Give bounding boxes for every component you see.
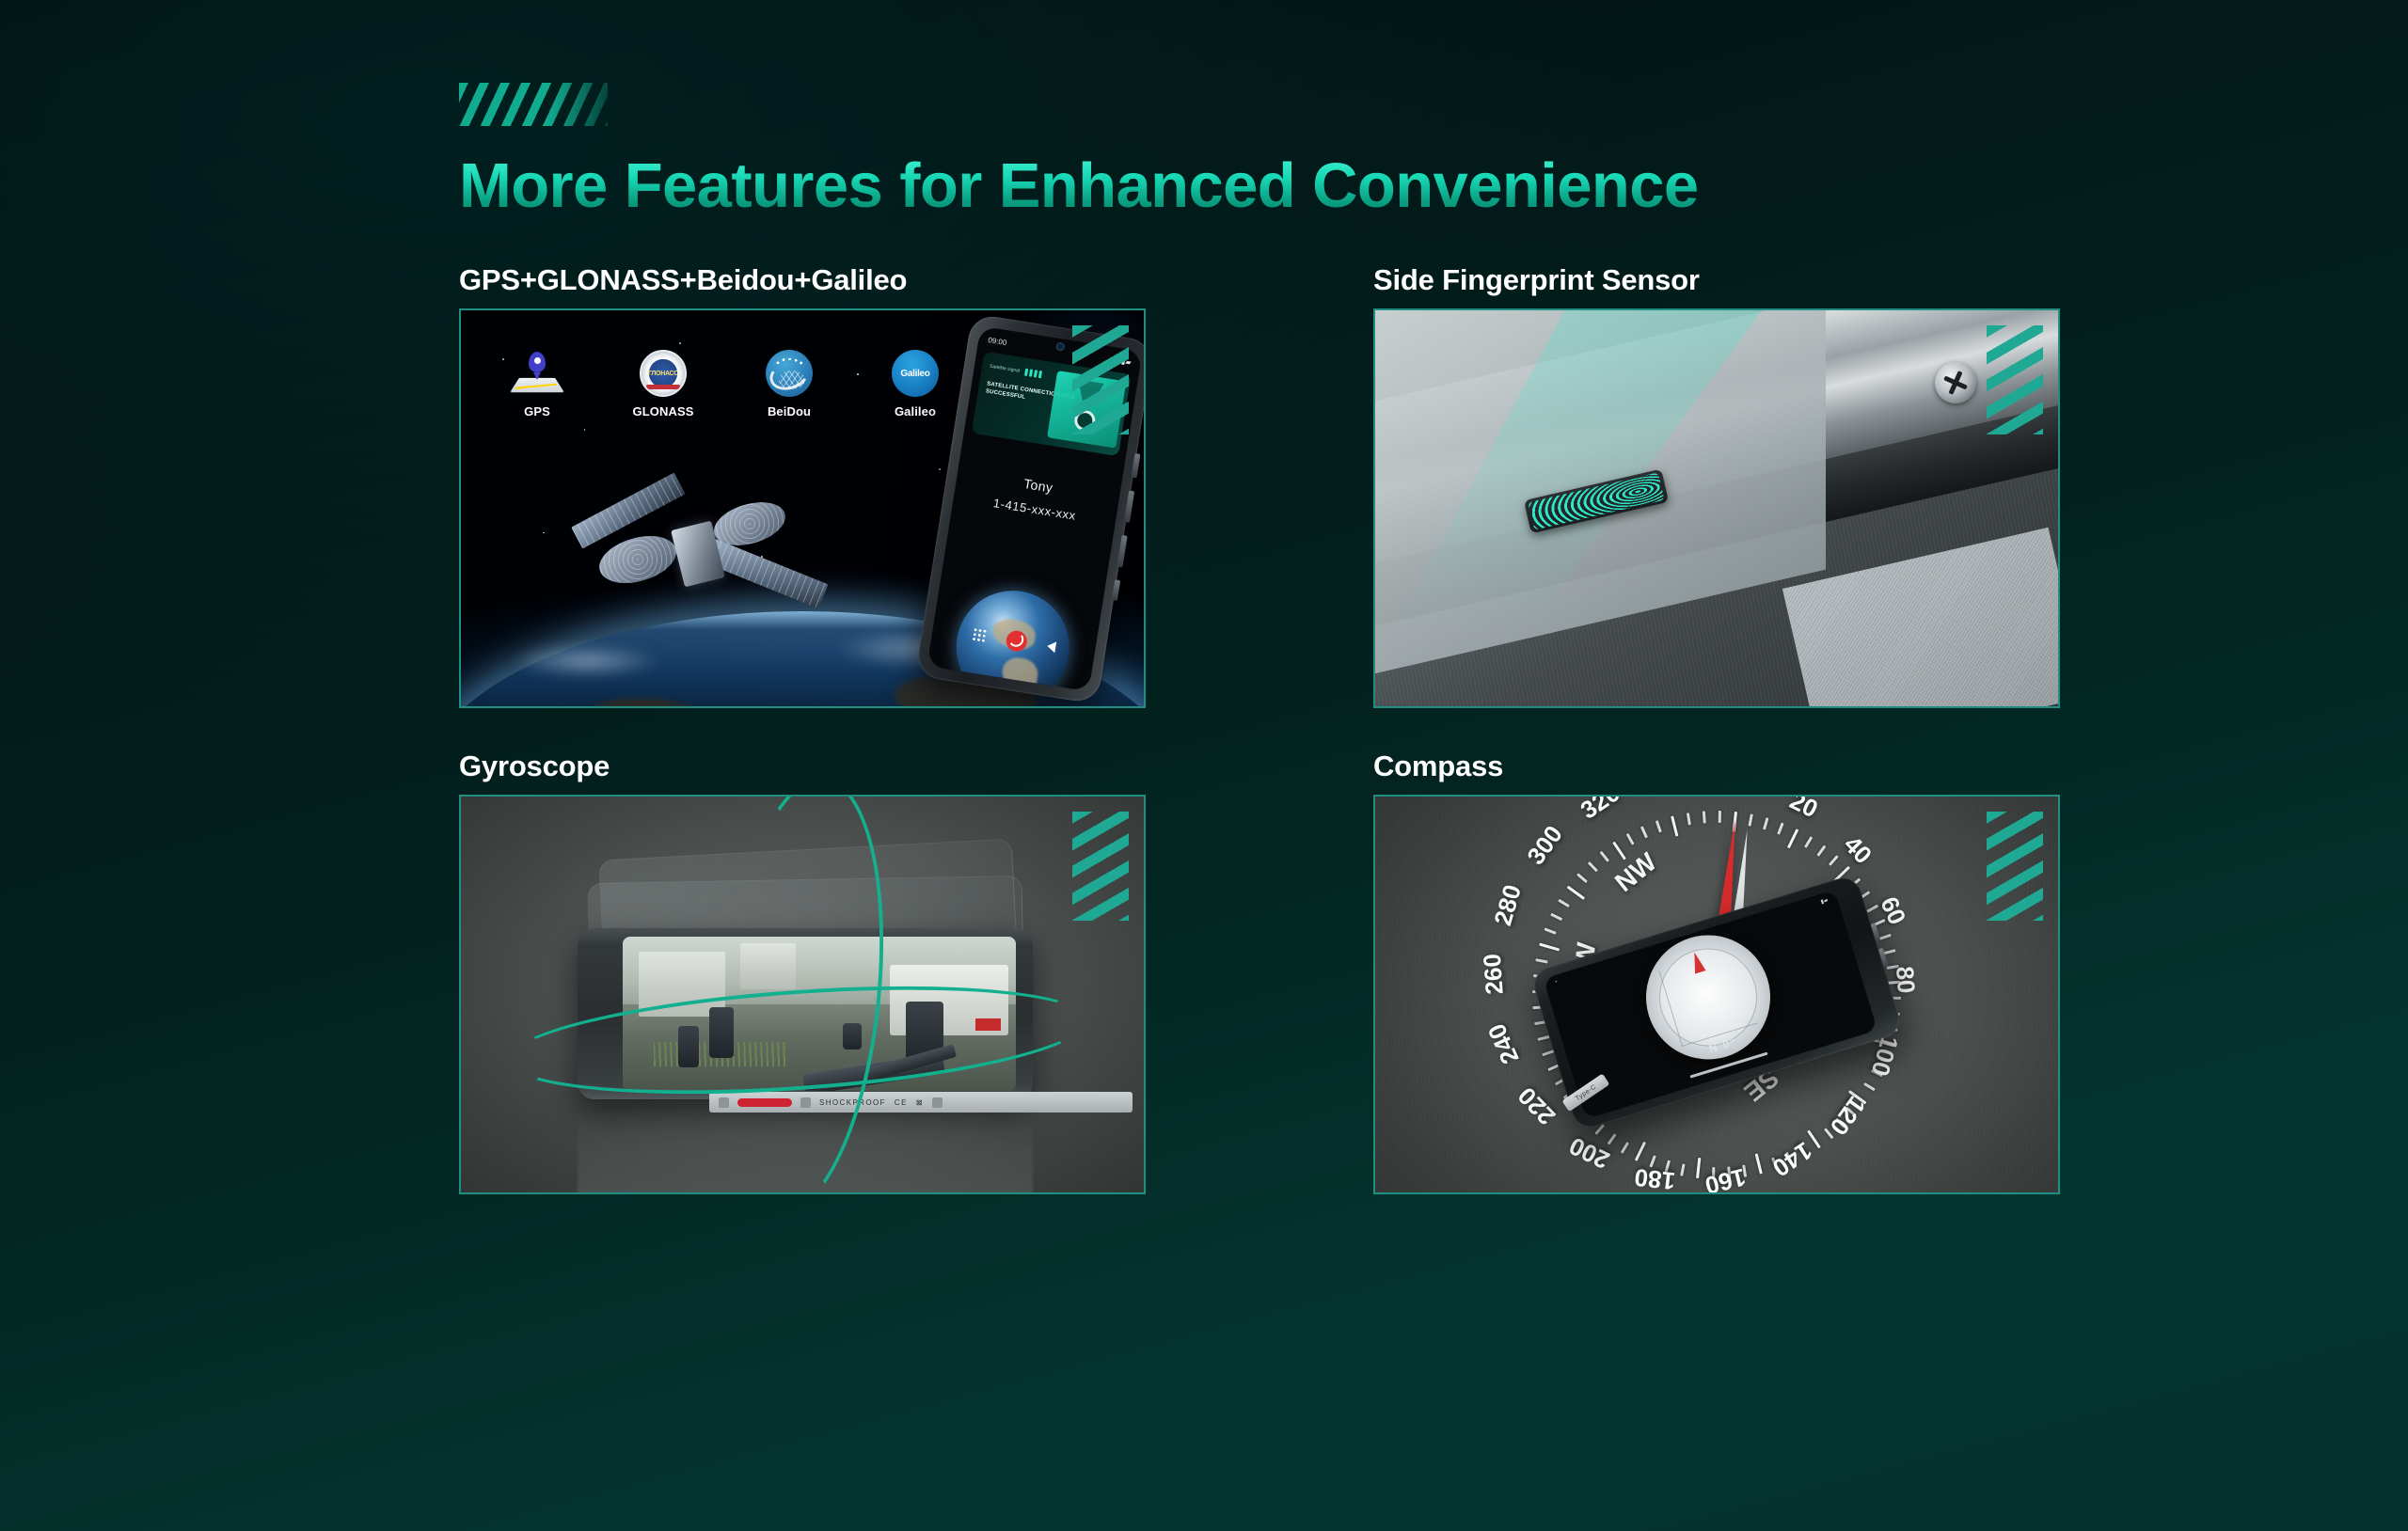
feature-cell-compass: Compass 02040608010012014016018020022024… xyxy=(1373,750,2060,1194)
compass-tick xyxy=(1883,949,1895,955)
compass-tick xyxy=(1567,885,1586,899)
gnss-badge-row: GPS ГЛОНАСС GLONASS BeiDou xyxy=(502,350,950,418)
page-header: More Features for Enhanced Convenience xyxy=(459,83,2058,219)
compass-tick xyxy=(1863,1081,1876,1090)
gnss-badge-glonass: ГЛОНАСС GLONASS xyxy=(628,350,698,418)
weee-icon: ⊠ xyxy=(916,1098,924,1107)
gnss-name-glonass: GLONASS xyxy=(628,404,698,418)
feature-label-compass: Compass xyxy=(1373,750,2060,783)
feature-label-fingerprint: Side Fingerprint Sensor xyxy=(1373,263,2060,297)
compass-tick xyxy=(1829,855,1839,866)
gnss-badge-galileo: Galileo Galileo xyxy=(880,350,950,418)
compass-tick xyxy=(1777,822,1783,834)
feature-cell-gyroscope: Gyroscope xyxy=(459,750,1146,1194)
compass-tick xyxy=(1626,832,1635,844)
compass-tick xyxy=(1599,850,1609,861)
compass-app-dial xyxy=(1631,920,1786,1075)
compass-degree-40: 40 xyxy=(1838,829,1877,869)
compass-tick xyxy=(1588,860,1598,871)
compass-degree-220: 220 xyxy=(1513,1081,1561,1130)
satellite-illustration xyxy=(564,470,837,630)
gps-pin-icon xyxy=(514,350,561,397)
feature-label-gnss: GPS+GLONASS+Beidou+Galileo xyxy=(459,263,1146,297)
compass-tick xyxy=(1719,811,1721,823)
compass-cardinal-nw: NW xyxy=(1609,846,1662,897)
compass-tick xyxy=(1879,933,1892,939)
feature-cell-gnss: GPS+GLONASS+Beidou+Galileo xyxy=(459,263,1146,708)
corner-stripes-icon xyxy=(1987,325,2043,434)
galileo-emblem-icon: Galileo xyxy=(892,350,939,397)
compass-tick xyxy=(1816,844,1826,856)
compass-tick xyxy=(1671,815,1678,836)
feature-showcase-page: More Features for Enhanced Convenience G… xyxy=(0,0,2408,1531)
compass-tick xyxy=(1612,841,1626,860)
corner-stripes-icon xyxy=(1072,325,1129,434)
keypad-icon[interactable] xyxy=(972,627,987,642)
compass-media: 0204060801001201401601802002202402602803… xyxy=(1375,797,2058,1192)
compass-tick xyxy=(1763,817,1768,829)
compass-tick xyxy=(1621,1142,1629,1154)
gnss-name-gps: GPS xyxy=(502,404,572,418)
page-title: More Features for Enhanced Convenience xyxy=(459,152,2058,219)
screw-head-icon xyxy=(1935,362,1976,403)
compass-tick xyxy=(1748,813,1752,826)
compass-tick xyxy=(1703,811,1706,823)
compass-tick xyxy=(1640,826,1648,838)
speaker-icon[interactable] xyxy=(1046,640,1056,653)
compass-tick xyxy=(1535,958,1547,963)
gnss-name-galileo: Galileo xyxy=(880,404,950,418)
feature-card-compass[interactable]: 0204060801001201401601802002202402602803… xyxy=(1373,795,2060,1194)
corner-stripes-icon xyxy=(1072,812,1129,921)
compass-tick xyxy=(1558,898,1570,907)
compass-tick xyxy=(1544,927,1556,934)
gnss-badge-gps: GPS xyxy=(502,350,572,418)
compass-tick xyxy=(1680,1163,1685,1176)
phone-status-time: 09:00 xyxy=(988,336,1007,347)
compass-tick xyxy=(1755,1153,1763,1174)
compass-tick xyxy=(1635,1141,1646,1160)
feature-cell-fingerprint: Side Fingerprint Sensor xyxy=(1373,263,2060,708)
compass-tick xyxy=(1550,912,1562,920)
beidou-emblem-icon xyxy=(766,350,813,397)
signal-bars-icon xyxy=(1024,369,1042,379)
ce-mark-icon: CE xyxy=(895,1098,908,1107)
feature-grid: GPS+GLONASS+Beidou+Galileo xyxy=(459,263,2060,1194)
gnss-badge-beidou: BeiDou xyxy=(754,350,824,418)
compass-degree-140: 140 xyxy=(1767,1135,1817,1182)
compass-degree-180: 180 xyxy=(1633,1161,1676,1192)
compass-degree-80: 80 xyxy=(1890,965,1921,994)
compass-degree-340: 340 xyxy=(1644,797,1691,798)
compass-tick xyxy=(1655,820,1662,832)
fingerprint-media xyxy=(1375,310,2058,706)
gnss-media: GPS ГЛОНАСС GLONASS BeiDou xyxy=(461,310,1144,706)
gyroscope-media: SHOCKPROOF CE ⊠ xyxy=(461,797,1144,1192)
compass-tick xyxy=(1696,1157,1701,1177)
compass-degree-320: 320 xyxy=(1576,797,1625,825)
feature-card-gyroscope[interactable]: SHOCKPROOF CE ⊠ xyxy=(459,795,1146,1194)
phone-status-right: ▮▰ xyxy=(1820,897,1830,908)
phone-status-left: ◔ xyxy=(1554,980,1560,990)
compass-degree-120: 120 xyxy=(1824,1090,1872,1140)
compass-degree-200: 200 xyxy=(1564,1130,1614,1175)
corner-stripes-icon xyxy=(1987,812,2043,921)
compass-tick xyxy=(1576,873,1588,883)
compass-tick xyxy=(1807,1129,1821,1148)
feature-card-fingerprint[interactable] xyxy=(1373,308,2060,708)
hatch-stripes-icon xyxy=(459,83,608,126)
compass-tick xyxy=(1608,1133,1617,1144)
compass-degree-300: 300 xyxy=(1521,820,1569,870)
compass-tick xyxy=(1804,836,1813,848)
compass-degree-160: 160 xyxy=(1702,1161,1749,1192)
glonass-emblem-icon: ГЛОНАСС xyxy=(640,350,687,397)
compass-tick xyxy=(1787,829,1798,848)
signal-label: Satellite signal xyxy=(990,364,1021,374)
gnss-name-beidou: BeiDou xyxy=(754,404,824,418)
compass-tick xyxy=(1539,942,1560,951)
compass-degree-260: 260 xyxy=(1478,953,1510,995)
feature-label-gyroscope: Gyroscope xyxy=(459,750,1146,783)
compass-degree-20: 20 xyxy=(1785,797,1823,824)
end-call-icon[interactable] xyxy=(1005,629,1028,653)
compass-tick xyxy=(1687,813,1691,825)
feature-card-gnss[interactable]: GPS ГЛОНАСС GLONASS BeiDou xyxy=(459,308,1146,708)
